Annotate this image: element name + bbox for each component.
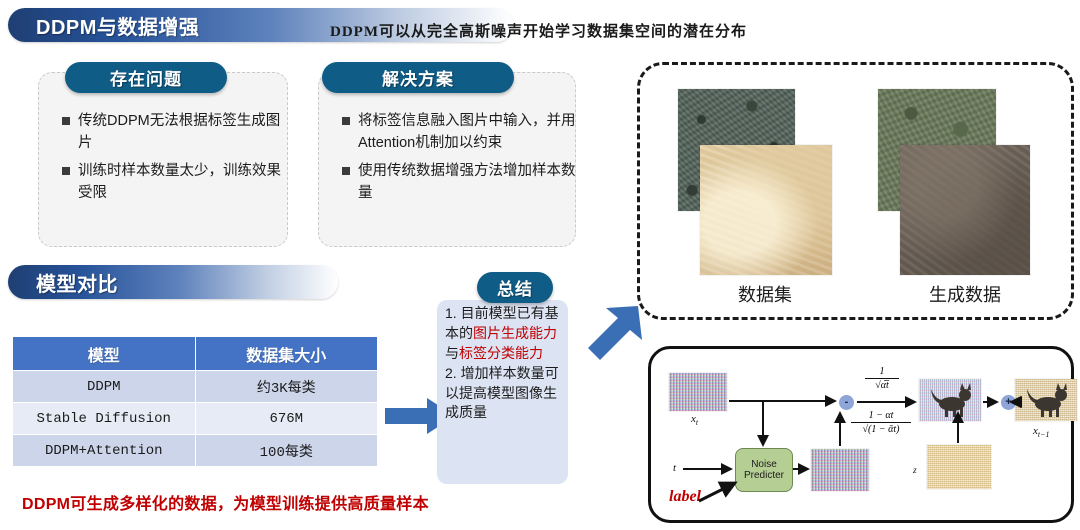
cell-model: Stable Diffusion <box>13 403 196 435</box>
cell-model: DDPM+Attention <box>13 435 196 467</box>
section-header-model-compare-title: 模型对比 <box>8 268 118 297</box>
summary-highlight-label-classification: 标签分类能力 <box>459 345 543 361</box>
table-header-row: 模型 数据集大小 <box>13 337 378 371</box>
arrow-diagonal-icon <box>576 300 646 370</box>
summary-badge: 总结 <box>477 272 553 303</box>
samples-caption-generated: 生成数据 <box>885 281 1045 307</box>
card-solutions-badge-label: 解决方案 <box>382 65 454 90</box>
summary-item-2: 2. 增加样本数量可 <box>445 364 560 384</box>
list-item-label: 将标签信息融入图片中输入，并用Attention机制加以约束 <box>358 110 584 155</box>
summary-box: 1. 目前模型已有基 本的图片生成能力 与标签分类能力 2. 增加样本数量可 以… <box>437 300 568 484</box>
summary-badge-label: 总结 <box>497 275 533 300</box>
table-row: DDPM 约3K每类 <box>13 371 378 403</box>
list-item: 训练时样本数量太少，训练效果受限 <box>62 160 294 205</box>
card-problems-badge-label: 存在问题 <box>110 65 182 90</box>
samples-caption-dataset: 数据集 <box>685 281 845 307</box>
cell-size: 676M <box>195 403 378 435</box>
summary-item-1-part-a: 1. 目前模型已有基 <box>445 305 559 321</box>
cell-size-highlighted: 100每类 <box>195 435 378 467</box>
summary-item-2-part-c: 成质量 <box>445 404 487 420</box>
table-header-model: 模型 <box>13 337 196 371</box>
cell-size: 约3K每类 <box>195 371 378 403</box>
card-problems-badge: 存在问题 <box>65 62 227 93</box>
list-item-label: 训练时样本数量太少，训练效果受限 <box>78 160 294 205</box>
samples-panel: 数据集 生成数据 <box>637 62 1074 320</box>
list-item: 将标签信息融入图片中输入，并用Attention机制加以约束 <box>342 110 584 155</box>
slide-subtitle: DDPM可以从完全高斯噪声开始学习数据集空间的潜在分布 <box>330 20 747 41</box>
section-header-ddpm-title: DDPM与数据增强 <box>8 11 199 40</box>
bullet-square-icon <box>342 167 350 175</box>
card-solutions-bullets: 将标签信息融入图片中输入，并用Attention机制加以约束 使用传统数据增强方… <box>328 104 594 210</box>
generated-image-brown <box>900 145 1030 275</box>
summary-item-2-cont: 以提高模型图像生 <box>445 384 560 404</box>
diffusion-figure-panel: xt t label Noise Predicter - 1 √α̅t 1 − … <box>648 346 1074 523</box>
model-comparison-table-wrap: 模型 数据集大小 DDPM 约3K每类 Stable Diffusion 676… <box>12 336 378 467</box>
summary-item-1-cont: 本的图片生成能力 <box>445 324 560 344</box>
list-item-label: 传统DDPM无法根据标签生成图片 <box>78 110 294 155</box>
conclusion-text: DDPM可生成多样化的数据，为模型训练提供高质量样本 <box>22 490 429 514</box>
card-problems-bullets: 传统DDPM无法根据标签生成图片 训练时样本数量太少，训练效果受限 <box>48 104 304 210</box>
card-solutions-badge: 解决方案 <box>322 62 514 93</box>
bullet-square-icon <box>62 117 70 125</box>
summary-highlight-image-generation: 图片生成能力 <box>473 325 557 341</box>
summary-item-1-cont2: 与标签分类能力 <box>445 344 560 364</box>
bullet-square-icon <box>62 167 70 175</box>
section-header-model-compare: 模型对比 <box>8 265 338 299</box>
bullet-square-icon <box>342 117 350 125</box>
summary-item-1: 1. 目前模型已有基 <box>445 304 560 324</box>
summary-item-1-part-b: 本的 <box>445 325 473 341</box>
diffusion-connectors <box>651 349 1077 526</box>
table-row: DDPM+Attention 100每类 <box>13 435 378 467</box>
model-comparison-table: 模型 数据集大小 DDPM 约3K每类 Stable Diffusion 676… <box>12 336 378 467</box>
list-item: 传统DDPM无法根据标签生成图片 <box>62 110 294 155</box>
summary-item-2-part-a: 2. 增加样本数量可 <box>445 365 559 381</box>
summary-item-1-part-c: 与 <box>445 345 459 361</box>
list-item: 使用传统数据增强方法增加样本数量 <box>342 160 584 205</box>
table-row: Stable Diffusion 676M <box>13 403 378 435</box>
cell-model: DDPM <box>13 371 196 403</box>
table-header-dataset-size: 数据集大小 <box>195 337 378 371</box>
dataset-image-sand <box>700 145 832 275</box>
summary-item-2-cont2: 成质量 <box>445 403 560 423</box>
summary-item-2-part-b: 以提高模型图像生 <box>445 385 557 401</box>
list-item-label: 使用传统数据增强方法增加样本数量 <box>358 160 584 205</box>
